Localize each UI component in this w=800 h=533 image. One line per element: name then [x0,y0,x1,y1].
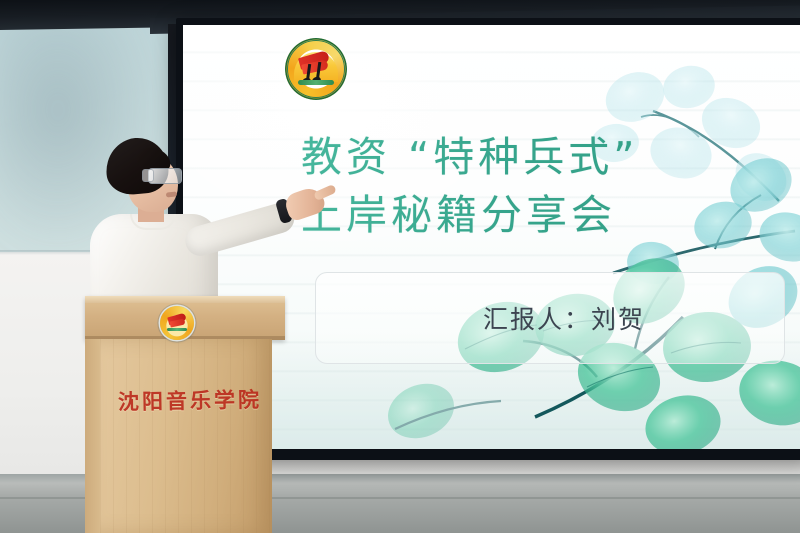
logo-green-bar [298,80,334,85]
slide-subtitle-box: 汇报人：刘贺 [315,272,785,364]
podium-body [100,339,272,533]
slide-title: 教资 “特种兵式” 上岸秘籍分享会 [301,128,800,244]
podium-side-panel [85,339,101,533]
eyeglasses-left-lens [142,169,154,182]
slide-logo-icon [285,38,347,100]
podium-top-edge [85,296,285,303]
podium-institution-text: 沈阳音乐学院 [118,384,269,417]
podium-emblem-green-bar [167,328,187,331]
screenshot-root: 教资 “特种兵式” 上岸秘籍分享会 汇报人：刘贺 沈阳音乐学院 [0,0,800,533]
slide-subtitle: 汇报人：刘贺 [483,300,645,336]
podium-emblem-icon [160,306,194,340]
